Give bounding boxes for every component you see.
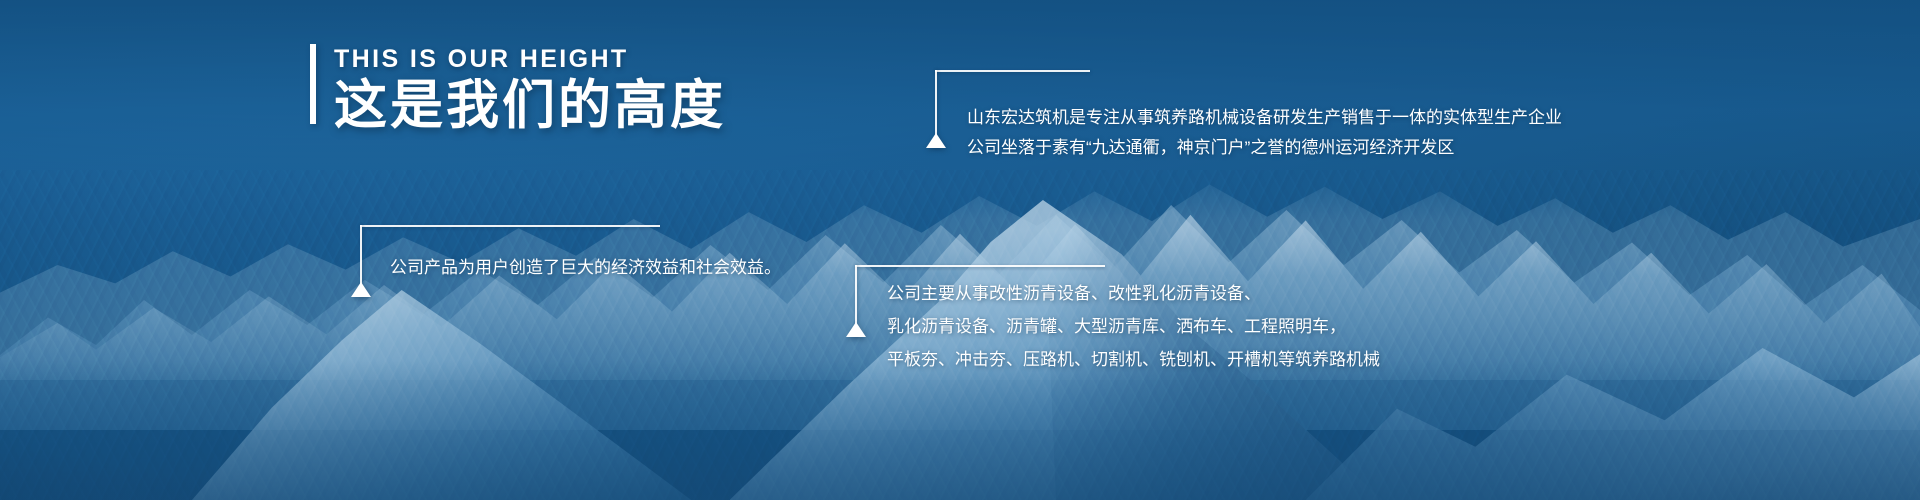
callout-text-group: 公司产品为用户创造了巨大的经济效益和社会效益。	[390, 253, 781, 283]
bracket-top-line	[855, 265, 1105, 267]
headline-accent-bar	[310, 44, 316, 124]
callout-line: 乳化沥青设备、沥青罐、大型沥青库、洒布车、工程照明车，	[887, 310, 1380, 343]
bracket-top-line	[935, 70, 1090, 72]
triangle-marker-icon	[846, 322, 866, 337]
banner-content: THIS IS OUR HEIGHT 这是我们的高度 山东宏达筑机是专注从事筑养…	[0, 0, 1920, 500]
callout-line: 公司产品为用户创造了巨大的经济效益和社会效益。	[390, 253, 781, 283]
headline-text-group: THIS IS OUR HEIGHT 这是我们的高度	[334, 44, 726, 136]
headline-english: THIS IS OUR HEIGHT	[334, 44, 726, 74]
callout-line: 公司坐落于素有“九达通衢，神京门户”之誉的德州运河经济开发区	[967, 133, 1562, 163]
callout-text-group: 公司主要从事改性沥青设备、改性乳化沥青设备、 乳化沥青设备、沥青罐、大型沥青库、…	[887, 277, 1380, 376]
headline-chinese: 这是我们的高度	[334, 76, 726, 136]
callout-text-group: 山东宏达筑机是专注从事筑养路机械设备研发生产销售于一体的实体型生产企业 公司坐落…	[967, 103, 1562, 163]
callout-line: 山东宏达筑机是专注从事筑养路机械设备研发生产销售于一体的实体型生产企业	[967, 103, 1562, 133]
bracket-top-line	[360, 225, 660, 227]
hero-banner: THIS IS OUR HEIGHT 这是我们的高度 山东宏达筑机是专注从事筑养…	[0, 0, 1920, 500]
banner-headline: THIS IS OUR HEIGHT 这是我们的高度	[310, 44, 726, 136]
callout-line: 公司主要从事改性沥青设备、改性乳化沥青设备、	[887, 277, 1380, 310]
callout-line: 平板夯、冲击夯、压路机、切割机、铣刨机、开槽机等筑养路机械	[887, 343, 1380, 376]
triangle-marker-icon	[351, 282, 371, 297]
triangle-marker-icon	[926, 133, 946, 148]
